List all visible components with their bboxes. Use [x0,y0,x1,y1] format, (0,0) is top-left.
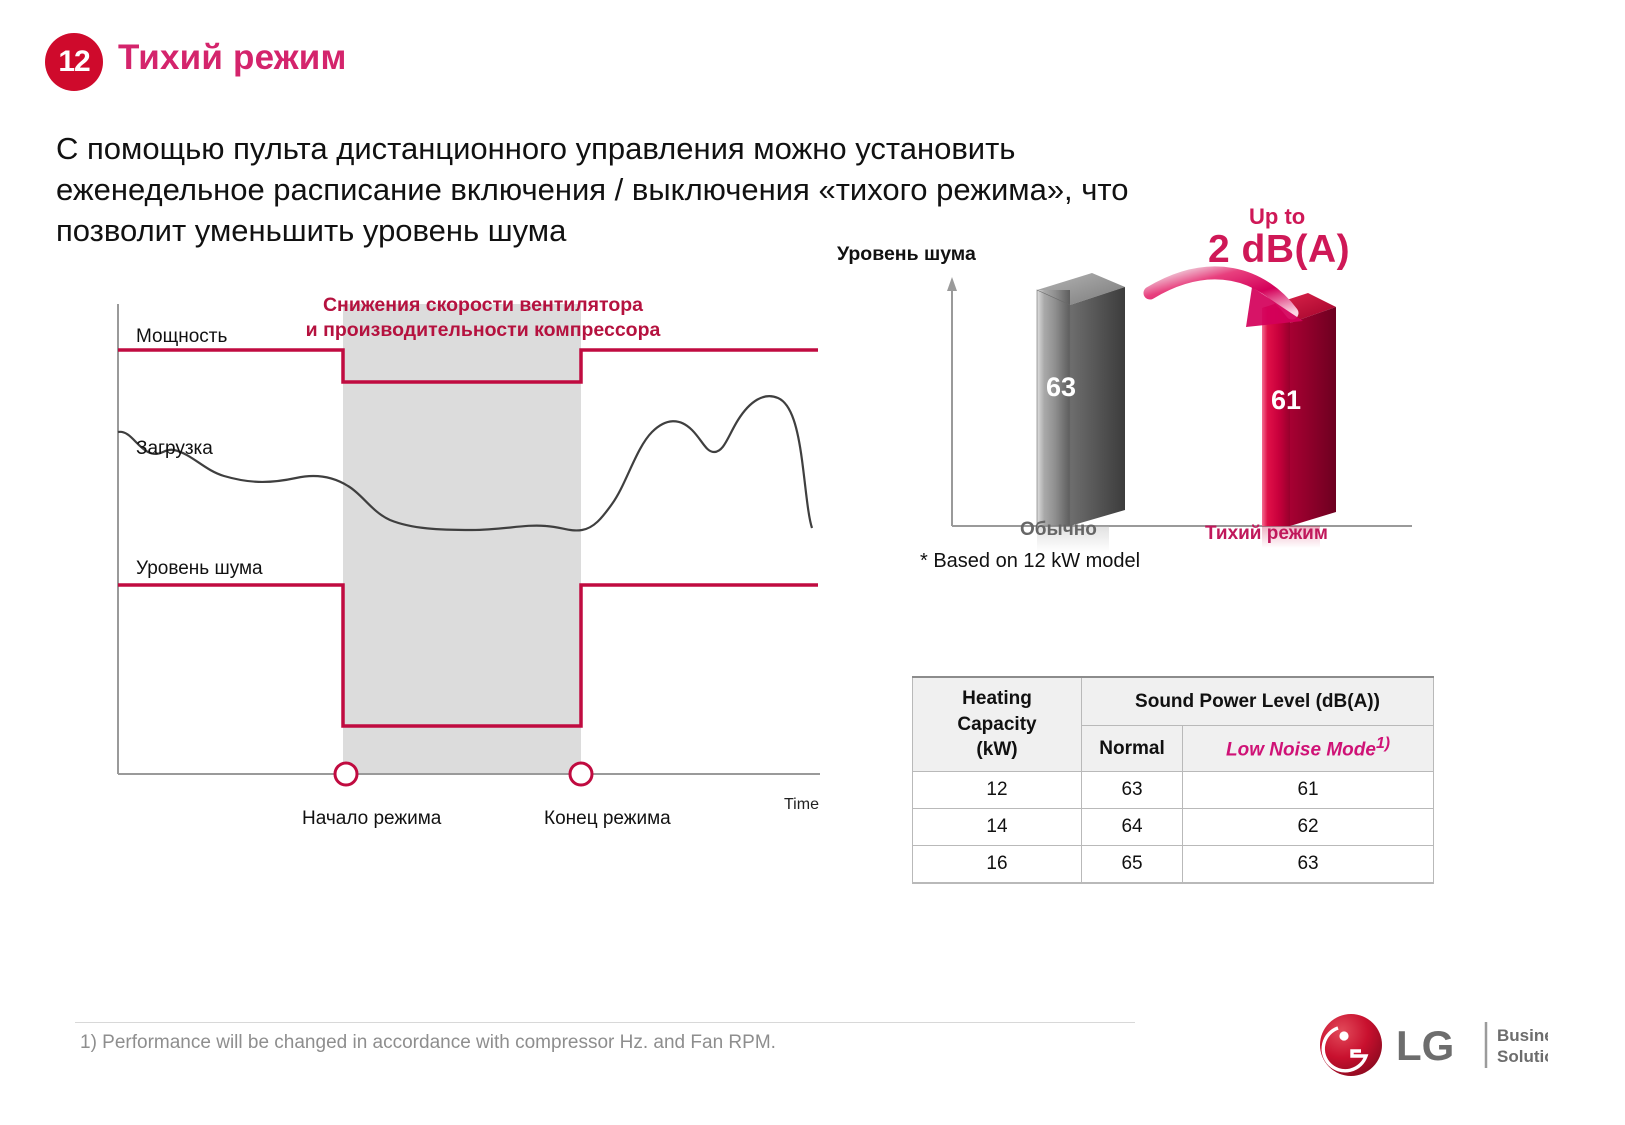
lg-tagline-line-2: Solutions [1497,1047,1548,1066]
label-load: Загрузка [136,438,213,460]
diagram-annotation-line-1: Снижения скорости вентилятора [288,293,678,318]
bar-label-quiet: Тихий режим [1205,523,1328,545]
footer-divider [75,1022,1135,1023]
label-noise-level: Уровень шума [136,558,263,580]
diagram-annotation: Снижения скорости вентилятора и производ… [288,293,678,343]
cell-low-noise: 61 [1183,772,1434,809]
quiet-mode-band [343,304,581,774]
table-header-capacity-line-2: Capacity [913,712,1081,738]
marker-end [570,763,592,785]
cell-capacity: 12 [913,772,1082,809]
cell-normal: 65 [1082,846,1183,884]
table-header-low-noise-footnote-ref: 1) [1376,735,1390,752]
cell-capacity: 14 [913,809,1082,846]
cell-low-noise: 62 [1183,809,1434,846]
section-number-badge: 12 [45,33,103,91]
lg-circle-icon [1320,1014,1382,1076]
bar-chart-axis-label: Уровень шума [837,243,976,266]
sound-power-table: Heating Capacity (kW) Sound Power Level … [912,676,1434,884]
bar-value-normal: 63 [1046,372,1076,403]
bar-chart-note: * Based on 12 kW model [920,550,1140,573]
label-mode-start: Начало режима [302,808,441,830]
table-header-low-noise-text: Low Noise Mode [1226,740,1376,761]
noise-bar-chart: Уровень шума Up to 2 dB(A) 63 61 Обычно … [860,195,1420,575]
cell-low-noise: 63 [1183,846,1434,884]
table-header-normal: Normal [1082,726,1183,772]
lg-logo-svg: LG Business Solutions [1318,1010,1548,1080]
lg-business-solutions-logo: LG Business Solutions [1318,1010,1548,1080]
table-header-capacity-line-3: (kW) [913,737,1081,763]
sound-power-table-body: 12 63 61 14 64 62 16 65 63 [913,772,1434,884]
cell-normal: 64 [1082,809,1183,846]
table-row: 12 63 61 [913,772,1434,809]
lg-tagline-line-1: Business [1497,1026,1548,1045]
table-header-capacity: Heating Capacity (kW) [913,677,1082,772]
timing-diagram: Снижения скорости вентилятора и производ… [100,280,860,850]
cell-normal: 63 [1082,772,1183,809]
cell-capacity: 16 [913,846,1082,884]
table-header-capacity-line-1: Heating [913,686,1081,712]
bar-y-axis-arrow [947,277,957,291]
page-title: Тихий режим [118,38,347,78]
marker-start [335,763,357,785]
intro-line-1: С помощью пульта дистанционного управлен… [56,128,1236,169]
lg-eye-icon [1339,1031,1348,1040]
table-header-low-noise: Low Noise Mode1) [1183,726,1434,772]
table-header-spl: Sound Power Level (dB(A)) [1082,677,1434,726]
diagram-annotation-line-2: и производительности компрессора [288,318,678,343]
label-time-axis: Time [784,796,819,814]
up-to-label: Up to [1249,204,1305,230]
delta-db-label: 2 dB(A) [1208,228,1350,272]
bar-label-normal: Обычно [1020,519,1097,541]
label-power: Мощность [136,326,227,348]
bar-value-quiet: 61 [1271,385,1301,416]
table-row: 14 64 62 [913,809,1434,846]
page-header: 12 Тихий режим [0,0,1625,110]
lg-wordmark: LG [1396,1022,1454,1069]
label-mode-end: Конец режима [544,808,671,830]
footer-note: 1) Performance will be changed in accord… [80,1032,776,1054]
table-row: 16 65 63 [913,846,1434,884]
